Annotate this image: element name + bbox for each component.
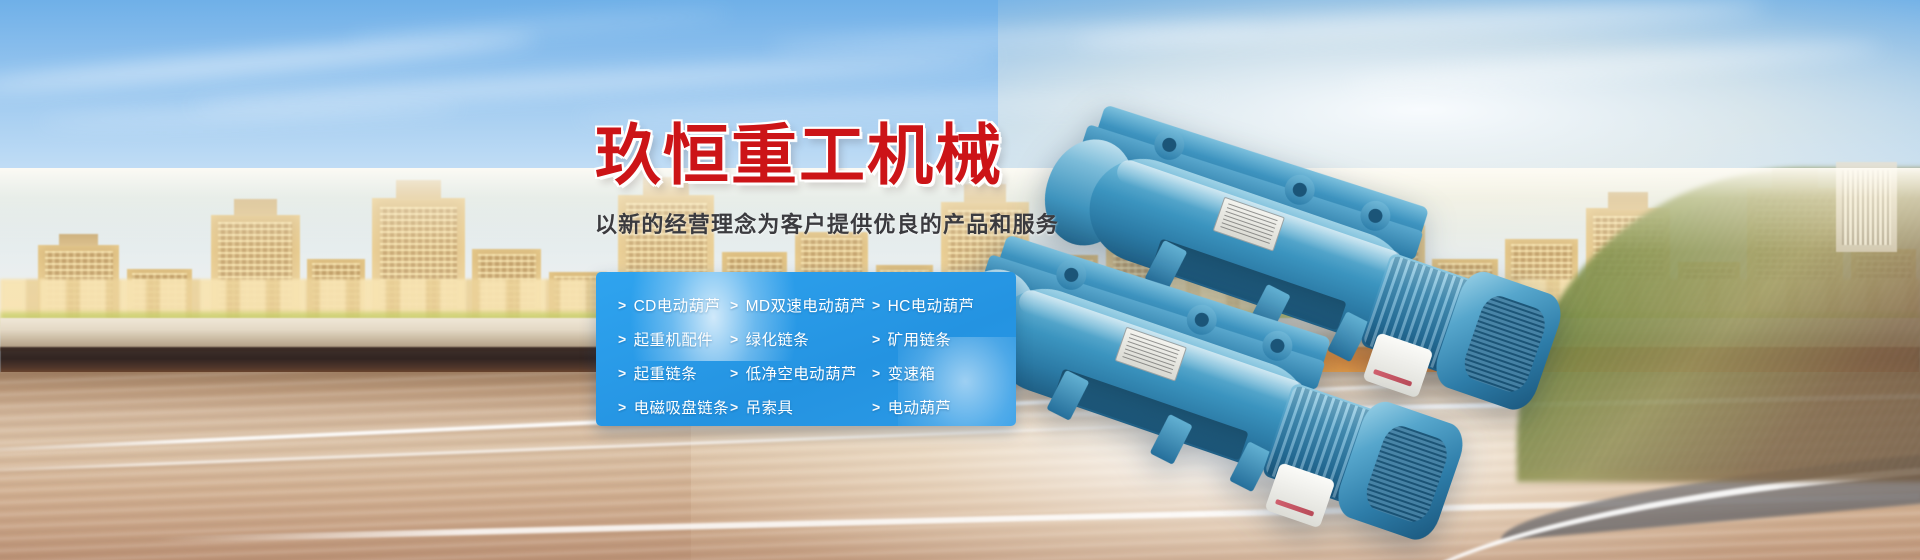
chevron-right-icon: > [730, 399, 739, 415]
product-link-magnetic-chain[interactable]: > 电磁吸盘链条 [618, 396, 730, 418]
chevron-right-icon: > [618, 365, 627, 381]
product-label: 电磁吸盘链条 [634, 396, 729, 418]
product-link-slings[interactable]: > 吊索具 [730, 396, 872, 418]
product-label: HC电动葫芦 [888, 294, 975, 316]
product-list-panel: > CD电动葫芦 > MD双速电动葫芦 > HC电动葫芦 > 起重机配件 > 绿… [596, 272, 1016, 426]
hero-banner: 玖恒重工机械 以新的经营理念为客户提供优良的产品和服务 > CD电动葫芦 > M… [0, 0, 1920, 560]
chevron-right-icon: > [618, 399, 627, 415]
product-link-md-hoist[interactable]: > MD双速电动葫芦 [730, 294, 872, 316]
product-label: MD双速电动葫芦 [746, 294, 866, 316]
product-label: 起重链条 [634, 362, 698, 384]
chevron-right-icon: > [872, 331, 881, 347]
chevron-right-icon: > [872, 399, 881, 415]
product-link-gearbox[interactable]: > 变速箱 [872, 362, 1016, 384]
product-link-cd-hoist[interactable]: > CD电动葫芦 [618, 294, 730, 316]
product-label: 电动葫芦 [888, 396, 952, 418]
product-label: 低净空电动葫芦 [746, 362, 857, 384]
company-tagline: 以新的经营理念为客户提供优良的产品和服务 [595, 207, 1055, 239]
banner-text-block: 玖恒重工机械 以新的经营理念为客户提供优良的产品和服务 [595, 122, 1055, 239]
chevron-right-icon: > [872, 365, 881, 381]
product-link-low-headroom-hoist[interactable]: > 低净空电动葫芦 [730, 362, 872, 384]
product-label: 起重机配件 [634, 328, 714, 350]
chevron-right-icon: > [618, 297, 627, 313]
product-label: 吊索具 [746, 396, 794, 418]
chevron-right-icon: > [730, 297, 739, 313]
distant-tower [1836, 162, 1897, 252]
cloud [346, 9, 730, 44]
chevron-right-icon: > [872, 297, 881, 313]
company-headline: 玖恒重工机械 [595, 122, 1055, 188]
product-link-lifting-chain[interactable]: > 起重链条 [618, 362, 730, 384]
chevron-right-icon: > [730, 331, 739, 347]
product-link-hc-hoist[interactable]: > HC电动葫芦 [872, 294, 1016, 316]
product-link-crane-parts[interactable]: > 起重机配件 [618, 328, 730, 350]
product-label: 变速箱 [888, 362, 936, 384]
product-link-electric-hoist[interactable]: > 电动葫芦 [872, 396, 1016, 418]
product-link-green-chain[interactable]: > 绿化链条 [730, 328, 872, 350]
product-label: CD电动葫芦 [634, 294, 721, 316]
product-link-mining-chain[interactable]: > 矿用链条 [872, 328, 1016, 350]
product-grid: > CD电动葫芦 > MD双速电动葫芦 > HC电动葫芦 > 起重机配件 > 绿… [596, 272, 1016, 424]
product-label: 绿化链条 [746, 328, 810, 350]
chevron-right-icon: > [730, 365, 739, 381]
product-label: 矿用链条 [888, 328, 952, 350]
chevron-right-icon: > [618, 331, 627, 347]
